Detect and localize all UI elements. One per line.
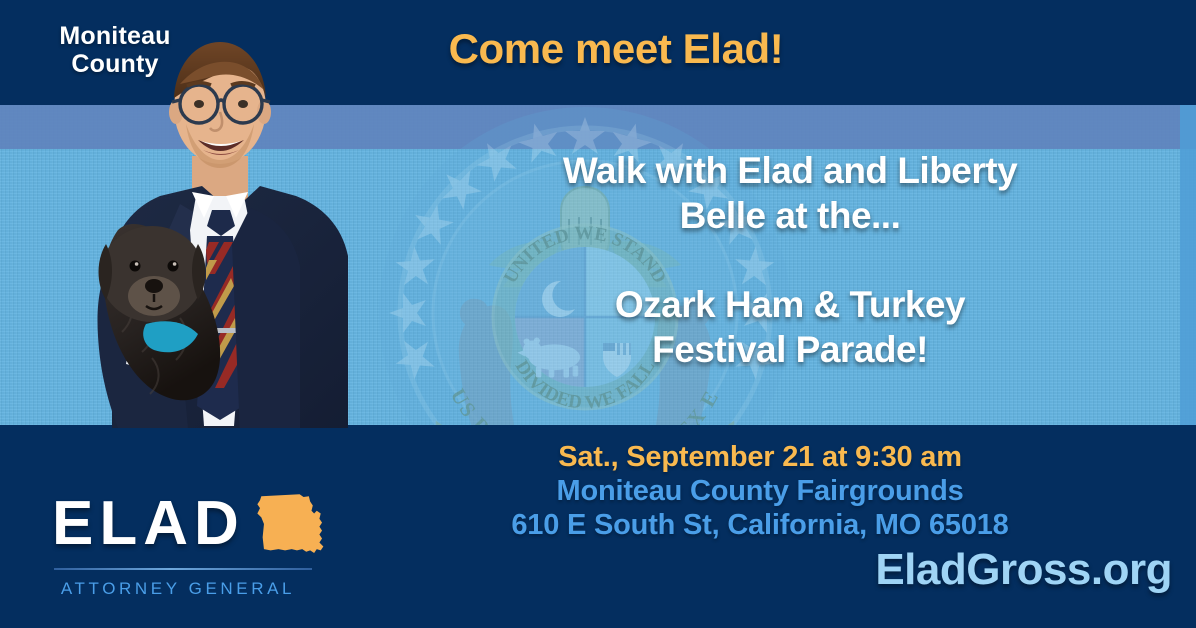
message-spacer [470, 238, 1110, 282]
page-title: Come meet Elad! [336, 26, 896, 72]
event-message: Walk with Elad and Liberty Belle at the.… [470, 148, 1110, 373]
missouri-state-icon [251, 491, 335, 557]
logo-tagline: ATTORNEY GENERAL [46, 579, 310, 599]
county-line-2: County [20, 50, 210, 78]
message-line-3: Ozark Ham & Turkey [470, 282, 1110, 327]
right-edge-strip [1180, 105, 1196, 425]
county-line-1: Moniteau [20, 22, 210, 50]
event-details: Sat., September 21 at 9:30 am Moniteau C… [390, 441, 1130, 543]
event-date-time: Sat., September 21 at 9:30 am [390, 441, 1130, 475]
event-venue: Moniteau County Fairgrounds [390, 475, 1130, 509]
campaign-event-poster: UNITED WE STAND DIVIDED WE FALL [0, 0, 1196, 628]
message-line-1: Walk with Elad and Liberty [470, 148, 1110, 193]
logo-wordmark-row: ELAD [46, 490, 356, 558]
candidate-photo [40, 28, 400, 428]
county-label: Moniteau County [20, 22, 210, 78]
website-url[interactable]: EladGross.org [875, 548, 1172, 592]
message-line-4: Festival Parade! [470, 327, 1110, 372]
event-address: 610 E South St, California, MO 65018 [390, 509, 1130, 543]
logo-divider [54, 568, 312, 570]
campaign-logo[interactable]: ELAD ATTORNEY GENERAL [46, 490, 356, 599]
logo-wordmark: ELAD [46, 493, 245, 555]
message-line-2: Belle at the... [470, 193, 1110, 238]
